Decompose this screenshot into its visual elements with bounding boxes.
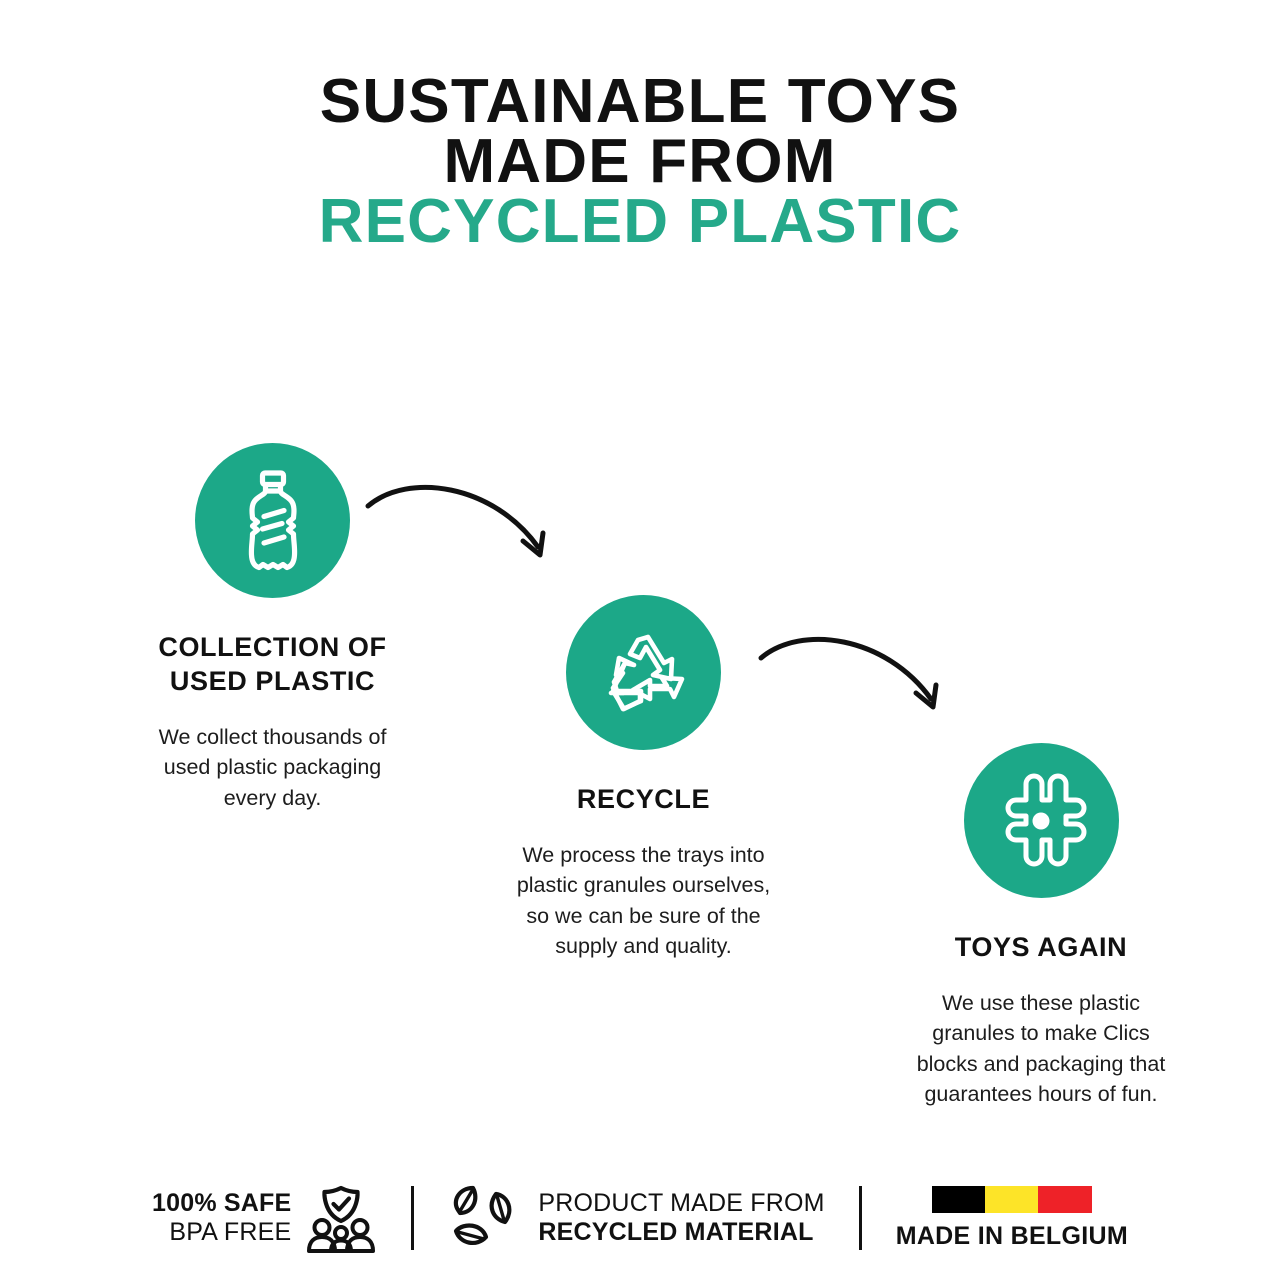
badge-belgium-label: MADE IN BELGIUM — [896, 1222, 1128, 1251]
step-2-title: RECYCLE — [462, 783, 825, 817]
badge-recycled-material: PRODUCT MADE FROM RECYCLED MATERIAL — [448, 1179, 824, 1257]
step-3-icon-circle — [964, 743, 1119, 898]
step-2-icon-circle — [566, 595, 721, 750]
step-3-description: We use these plastic granules to make Cl… — [855, 988, 1227, 1110]
badge-recycled-line-1: PRODUCT MADE FROM — [538, 1189, 824, 1219]
badge-safe-text: 100% SAFE BPA FREE — [152, 1189, 291, 1248]
badge-safe-line-2: BPA FREE — [169, 1218, 291, 1248]
step-1-icon-circle — [195, 443, 350, 598]
title-line-3-accent: RECYCLED PLASTIC — [0, 192, 1280, 252]
footer-badges: 100% SAFE BPA FREE — [0, 1170, 1280, 1266]
step-recycle: RECYCLE We process the trays into plasti… — [462, 595, 825, 962]
step-1-title: COLLECTION OF USED PLASTIC — [75, 631, 470, 699]
recycle-arrows-icon — [594, 625, 694, 721]
footer-divider-2 — [859, 1186, 862, 1250]
page-title: SUSTAINABLE TOYS MADE FROM RECYCLED PLAS… — [0, 72, 1280, 252]
clics-block-icon — [990, 770, 1092, 872]
badge-recycled-line-2: RECYCLED MATERIAL — [538, 1218, 813, 1248]
shield-family-icon — [305, 1183, 377, 1253]
step-collection-of-used-plastic: COLLECTION OF USED PLASTIC We collect th… — [75, 443, 470, 813]
three-leaves-icon — [448, 1182, 524, 1254]
badge-recycled-text: PRODUCT MADE FROM RECYCLED MATERIAL — [538, 1189, 824, 1248]
step-2-description: We process the trays into plastic granul… — [462, 840, 825, 962]
flag-stripe-black — [932, 1186, 985, 1213]
step-3-title: TOYS AGAIN — [855, 931, 1227, 965]
title-line-2: MADE FROM — [0, 132, 1280, 192]
title-line-1: SUSTAINABLE TOYS — [0, 72, 1280, 132]
flag-stripe-yellow — [985, 1186, 1038, 1213]
flag-stripe-red — [1038, 1186, 1091, 1213]
badge-made-in-belgium: MADE IN BELGIUM — [896, 1179, 1128, 1257]
badge-safe-line-1: 100% SAFE — [152, 1189, 291, 1219]
badge-100-percent-safe: 100% SAFE BPA FREE — [152, 1179, 377, 1257]
plastic-bottle-icon — [230, 469, 316, 573]
step-1-description: We collect thousands of used plastic pac… — [75, 722, 470, 814]
step-toys-again: TOYS AGAIN We use these plastic granules… — [855, 743, 1227, 1110]
footer-divider-1 — [411, 1186, 414, 1250]
belgium-flag-icon — [932, 1186, 1092, 1213]
